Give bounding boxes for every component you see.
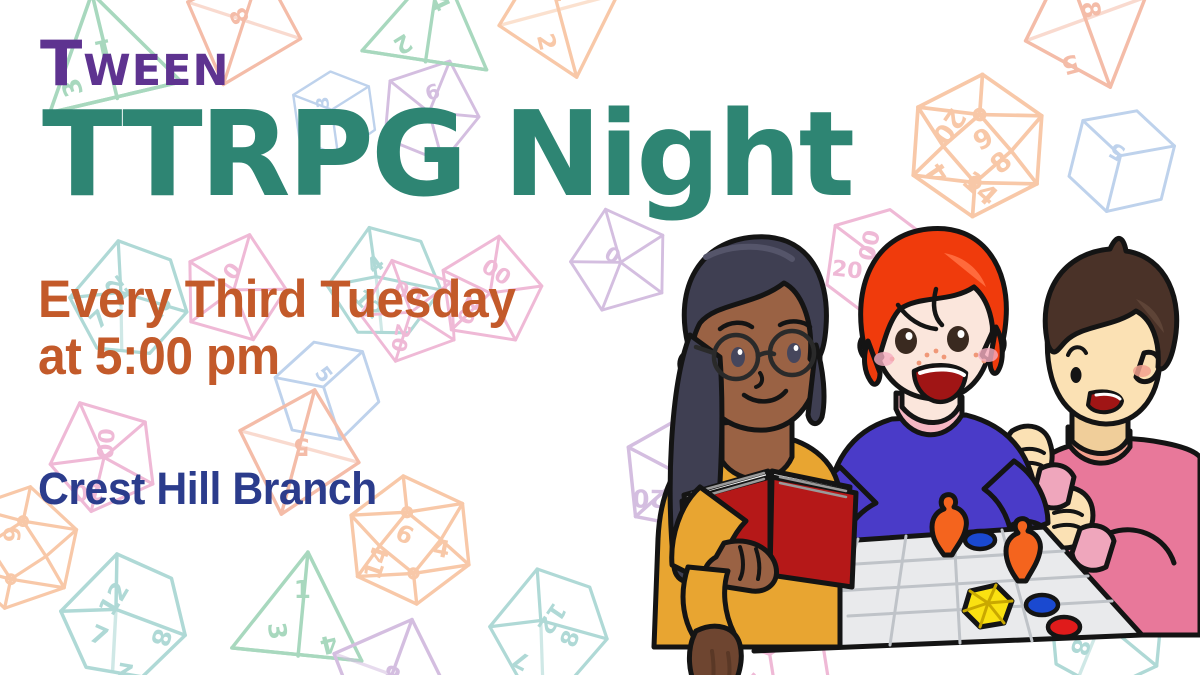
headline-text-block: Tween TTRPG Night Every Third Tuesday at…: [0, 0, 700, 675]
illustration-three-tweens-playing: [644, 195, 1200, 675]
schedule-text: Every Third Tuesday at 5:00 pm: [38, 272, 515, 385]
poster-canvas: 1383642428564814205127204120020500205914…: [0, 0, 1200, 675]
schedule-line-1: Every Third Tuesday: [38, 272, 515, 329]
bg-die-face-number: 8: [1075, 0, 1106, 20]
location-branch-name: Crest Hill Branch: [38, 466, 377, 511]
bg-die-face-number: 5: [1058, 48, 1082, 80]
character-left: [654, 237, 856, 675]
red-token: [1048, 617, 1080, 637]
schedule-line-2: at 5:00 pm: [38, 329, 515, 386]
yellow-d12: [964, 585, 1012, 627]
bg-die-face-number: 5: [1105, 136, 1130, 165]
blue-token: [965, 531, 995, 549]
blue-token: [1026, 595, 1058, 615]
